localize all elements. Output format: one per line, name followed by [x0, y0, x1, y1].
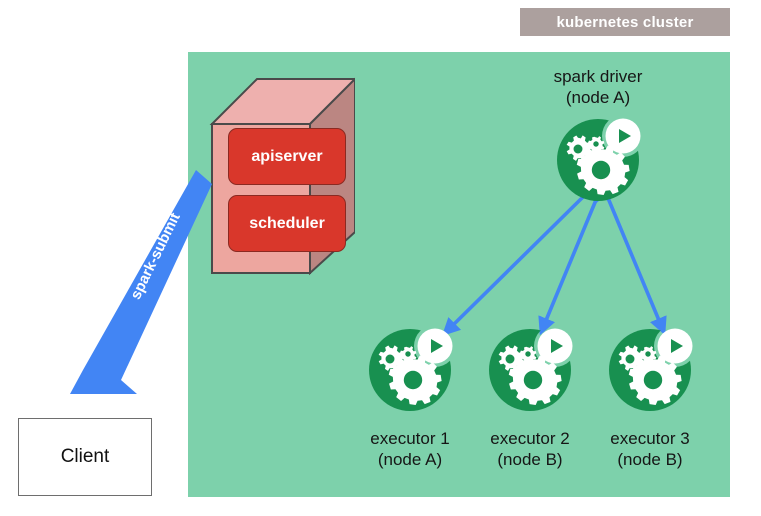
client-label: Client — [61, 446, 110, 468]
executor-1-node: (node A) — [340, 449, 480, 470]
diagram-canvas: kubernetes cluster apiserver scheduler — [0, 0, 761, 516]
executor-3-name: executor 3 — [580, 428, 720, 449]
executor-1-label: executor 1 (node A) — [340, 428, 480, 470]
spark-driver-name: spark driver — [518, 66, 678, 87]
executor-3-label: executor 3 (node B) — [580, 428, 720, 470]
spark-driver-node: (node A) — [518, 87, 678, 108]
spark-driver-label: spark driver (node A) — [518, 66, 678, 108]
executor-2-label: executor 2 (node B) — [460, 428, 600, 470]
executor-3-node: (node B) — [580, 449, 720, 470]
spark-driver-node-icon[interactable] — [557, 119, 641, 202]
client-box[interactable]: Client — [18, 418, 152, 496]
executor-3-node-icon[interactable] — [609, 329, 693, 412]
executor-1-node-icon[interactable] — [369, 329, 453, 412]
executor-2-name: executor 2 — [460, 428, 600, 449]
executor-2-node: (node B) — [460, 449, 600, 470]
executor-2-node-icon[interactable] — [489, 329, 573, 412]
executor-1-name: executor 1 — [340, 428, 480, 449]
